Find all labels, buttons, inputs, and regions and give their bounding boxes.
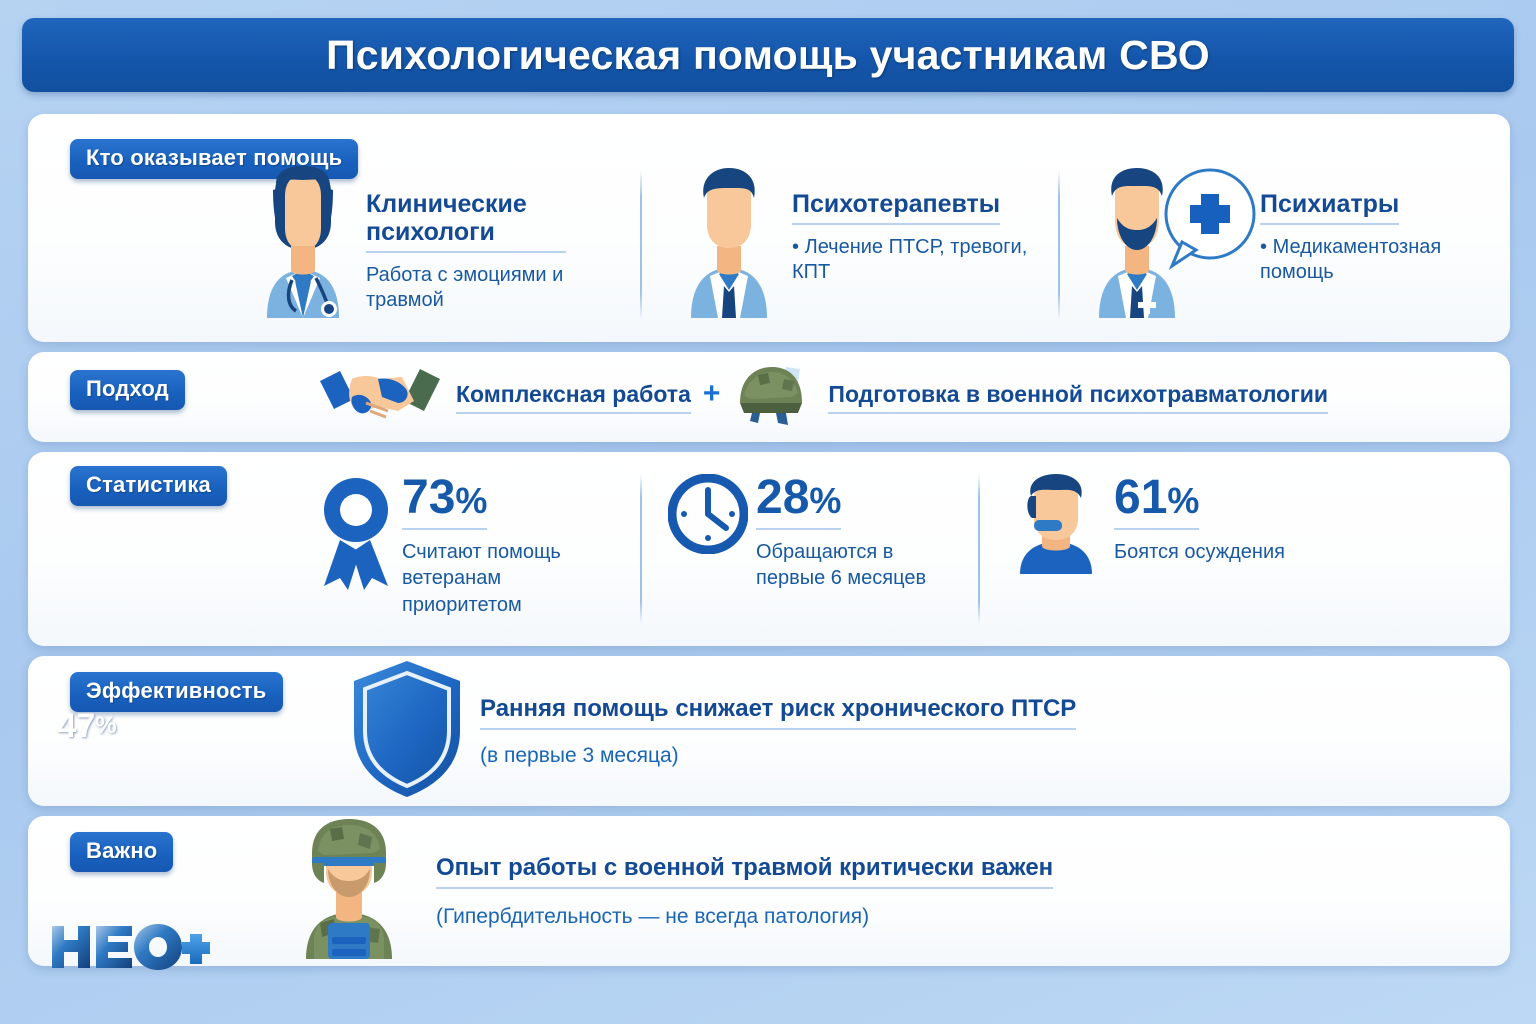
effectiveness-number: 47	[57, 707, 95, 746]
stat-number: 61	[1114, 471, 1167, 524]
provider-text: Психотерапевты • Лечение ПТСР, тревоги, …	[792, 166, 1040, 286]
effectiveness-unit: %	[95, 712, 116, 740]
provider-text: Психиатры • Медикаментозная помощь	[1260, 166, 1488, 286]
brand-logo	[50, 920, 210, 977]
vertical-divider	[1058, 170, 1060, 320]
stat-label: Считают помощь ветеранам приоритетом	[402, 539, 618, 618]
clock-icon	[668, 474, 748, 559]
provider-desc: Работа с эмоциями и травмой	[366, 263, 620, 314]
stat-value: 28%	[756, 474, 841, 530]
providers-row: Клинические психологи Работа с эмоциями …	[28, 166, 1510, 342]
bullet-mark: •	[792, 236, 805, 258]
stat-number: 28	[756, 471, 809, 524]
stat-item: 28% Обращаются в первые 6 месяцев	[640, 474, 960, 646]
soldier-icon	[284, 819, 414, 964]
handshake-icon	[318, 363, 442, 432]
stat-unit: %	[455, 480, 487, 521]
stat-label: Боятся осуждения	[1114, 539, 1285, 565]
vertical-divider	[978, 474, 980, 624]
stat-unit: %	[1167, 480, 1199, 521]
stat-item: 73% Считают помощь ветеранам приоритетом	[318, 474, 618, 646]
provider-title: Психиатры	[1260, 190, 1399, 225]
important-sub: (Гипербдительность — не всегда патология…	[436, 905, 1053, 929]
male-doctor-icon	[666, 166, 792, 323]
effectiveness-value: 47%	[28, 656, 146, 796]
stat-body: 61% Боятся осуждения	[1106, 474, 1285, 565]
provider-psychiatrists: Психиатры • Медикаментозная помощь	[1058, 166, 1488, 326]
stat-body: 73% Считают помощь ветеранам приоритетом	[394, 474, 618, 618]
bullet-mark: •	[1260, 236, 1273, 258]
provider-psychotherapists: Психотерапевты • Лечение ПТСР, тревоги, …	[640, 166, 1040, 326]
stat-number: 73	[402, 471, 455, 524]
approach-text-left: Комплексная работа	[456, 381, 691, 414]
effectiveness-main: Ранняя помощь снижает риск хронического …	[480, 695, 1076, 730]
effectiveness-text: Ранняя помощь снижает риск хронического …	[480, 695, 1076, 768]
plus-sign: +	[703, 377, 721, 411]
effectiveness-sub: (в первые 3 месяца)	[480, 744, 1076, 768]
vertical-divider	[640, 170, 642, 320]
effectiveness-row: 47% Ранняя помощь снижает риск хроническ…	[28, 656, 1510, 806]
card-statistics: Статистика 73% Считают помощь ветеранам …	[28, 452, 1510, 646]
provider-clinical-psychologists: Клинические психологи Работа с эмоциями …	[240, 166, 620, 326]
shield-icon	[348, 659, 466, 804]
page-title: Психологическая помощь участникам СВО	[326, 32, 1210, 79]
provider-desc: • Медикаментозная помощь	[1260, 235, 1488, 286]
stat-value: 73%	[402, 474, 487, 530]
important-text: Опыт работы с военной травмой критически…	[436, 854, 1053, 929]
bearded-doctor-icon	[1084, 166, 1260, 323]
important-main: Опыт работы с военной травмой критически…	[436, 854, 1053, 889]
female-doctor-icon	[240, 166, 366, 323]
stat-unit: %	[809, 480, 841, 521]
approach-row: Комплексная работа + Подготовка в военно…	[28, 352, 1510, 442]
award-ribbon-icon	[318, 474, 394, 597]
vertical-divider	[640, 474, 642, 624]
card-approach: Подход Комплексная работа +	[28, 352, 1510, 442]
provider-desc: • Лечение ПТСР, тревоги, КПТ	[792, 235, 1040, 286]
provider-title: Клинические психологи	[366, 190, 566, 253]
stat-item: 61% Боятся осуждения	[978, 474, 1338, 646]
stat-value: 61%	[1114, 474, 1199, 530]
provider-text: Клинические психологи Работа с эмоциями …	[366, 166, 620, 314]
provider-desc-text: Лечение ПТСР, тревоги, КПТ	[792, 236, 1027, 283]
important-row: Опыт работы с военной травмой критически…	[28, 816, 1510, 966]
card-providers: Кто оказывает помощь	[28, 114, 1510, 342]
card-important: Важно Опы	[28, 816, 1510, 966]
card-effectiveness: Эффективность 47% Ранняя помощь снижает …	[28, 656, 1510, 806]
military-helmet-icon	[730, 363, 816, 432]
stat-label: Обращаются в первые 6 месяцев	[756, 539, 960, 592]
provider-title: Психотерапевты	[792, 190, 1000, 225]
person-headset-icon	[1006, 474, 1106, 579]
approach-text-right: Подготовка в военной психотравматологии	[828, 381, 1328, 414]
provider-desc-text: Медикаментозная помощь	[1260, 236, 1441, 283]
stat-body: 28% Обращаются в первые 6 месяцев	[748, 474, 960, 592]
statistics-row: 73% Считают помощь ветеранам приоритетом…	[28, 474, 1510, 646]
page-header: Психологическая помощь участникам СВО	[22, 18, 1514, 92]
